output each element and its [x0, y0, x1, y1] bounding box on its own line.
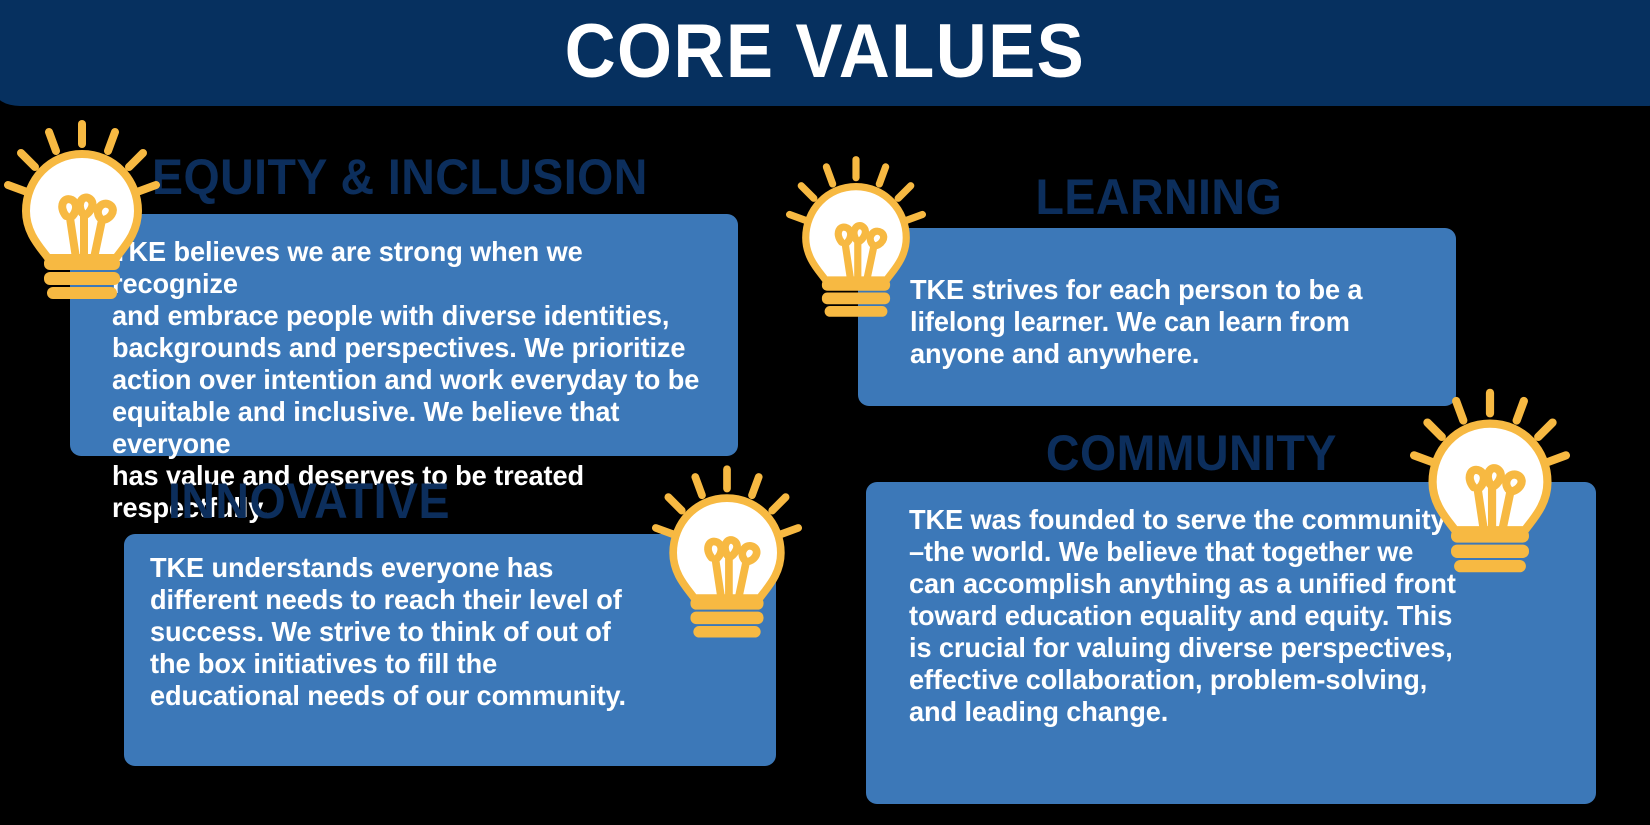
- header-banner: CORE VALUES: [0, 0, 1650, 106]
- card-body-learning: TKE strives for each person to be a life…: [910, 274, 1414, 370]
- card-innovative: TKE understands everyone has different n…: [124, 534, 776, 766]
- card-learning: TKE strives for each person to be a life…: [858, 228, 1456, 406]
- card-body-community: TKE was founded to serve the community –…: [909, 504, 1569, 728]
- infographic-canvas: CORE VALUES EQUITY & INCLUSION TKE belie…: [0, 0, 1650, 825]
- heading-innovative: INNOVATIVE: [168, 476, 450, 526]
- card-equity-inclusion: TKE believes we are strong when we recog…: [70, 214, 738, 456]
- card-body-innovative: TKE understands everyone has different n…: [150, 552, 654, 712]
- card-community: TKE was founded to serve the community –…: [866, 482, 1596, 804]
- page-title: CORE VALUES: [565, 14, 1086, 90]
- heading-community: COMMUNITY: [1046, 428, 1337, 478]
- heading-learning: LEARNING: [1035, 172, 1282, 222]
- heading-equity-inclusion: EQUITY & INCLUSION: [152, 152, 648, 202]
